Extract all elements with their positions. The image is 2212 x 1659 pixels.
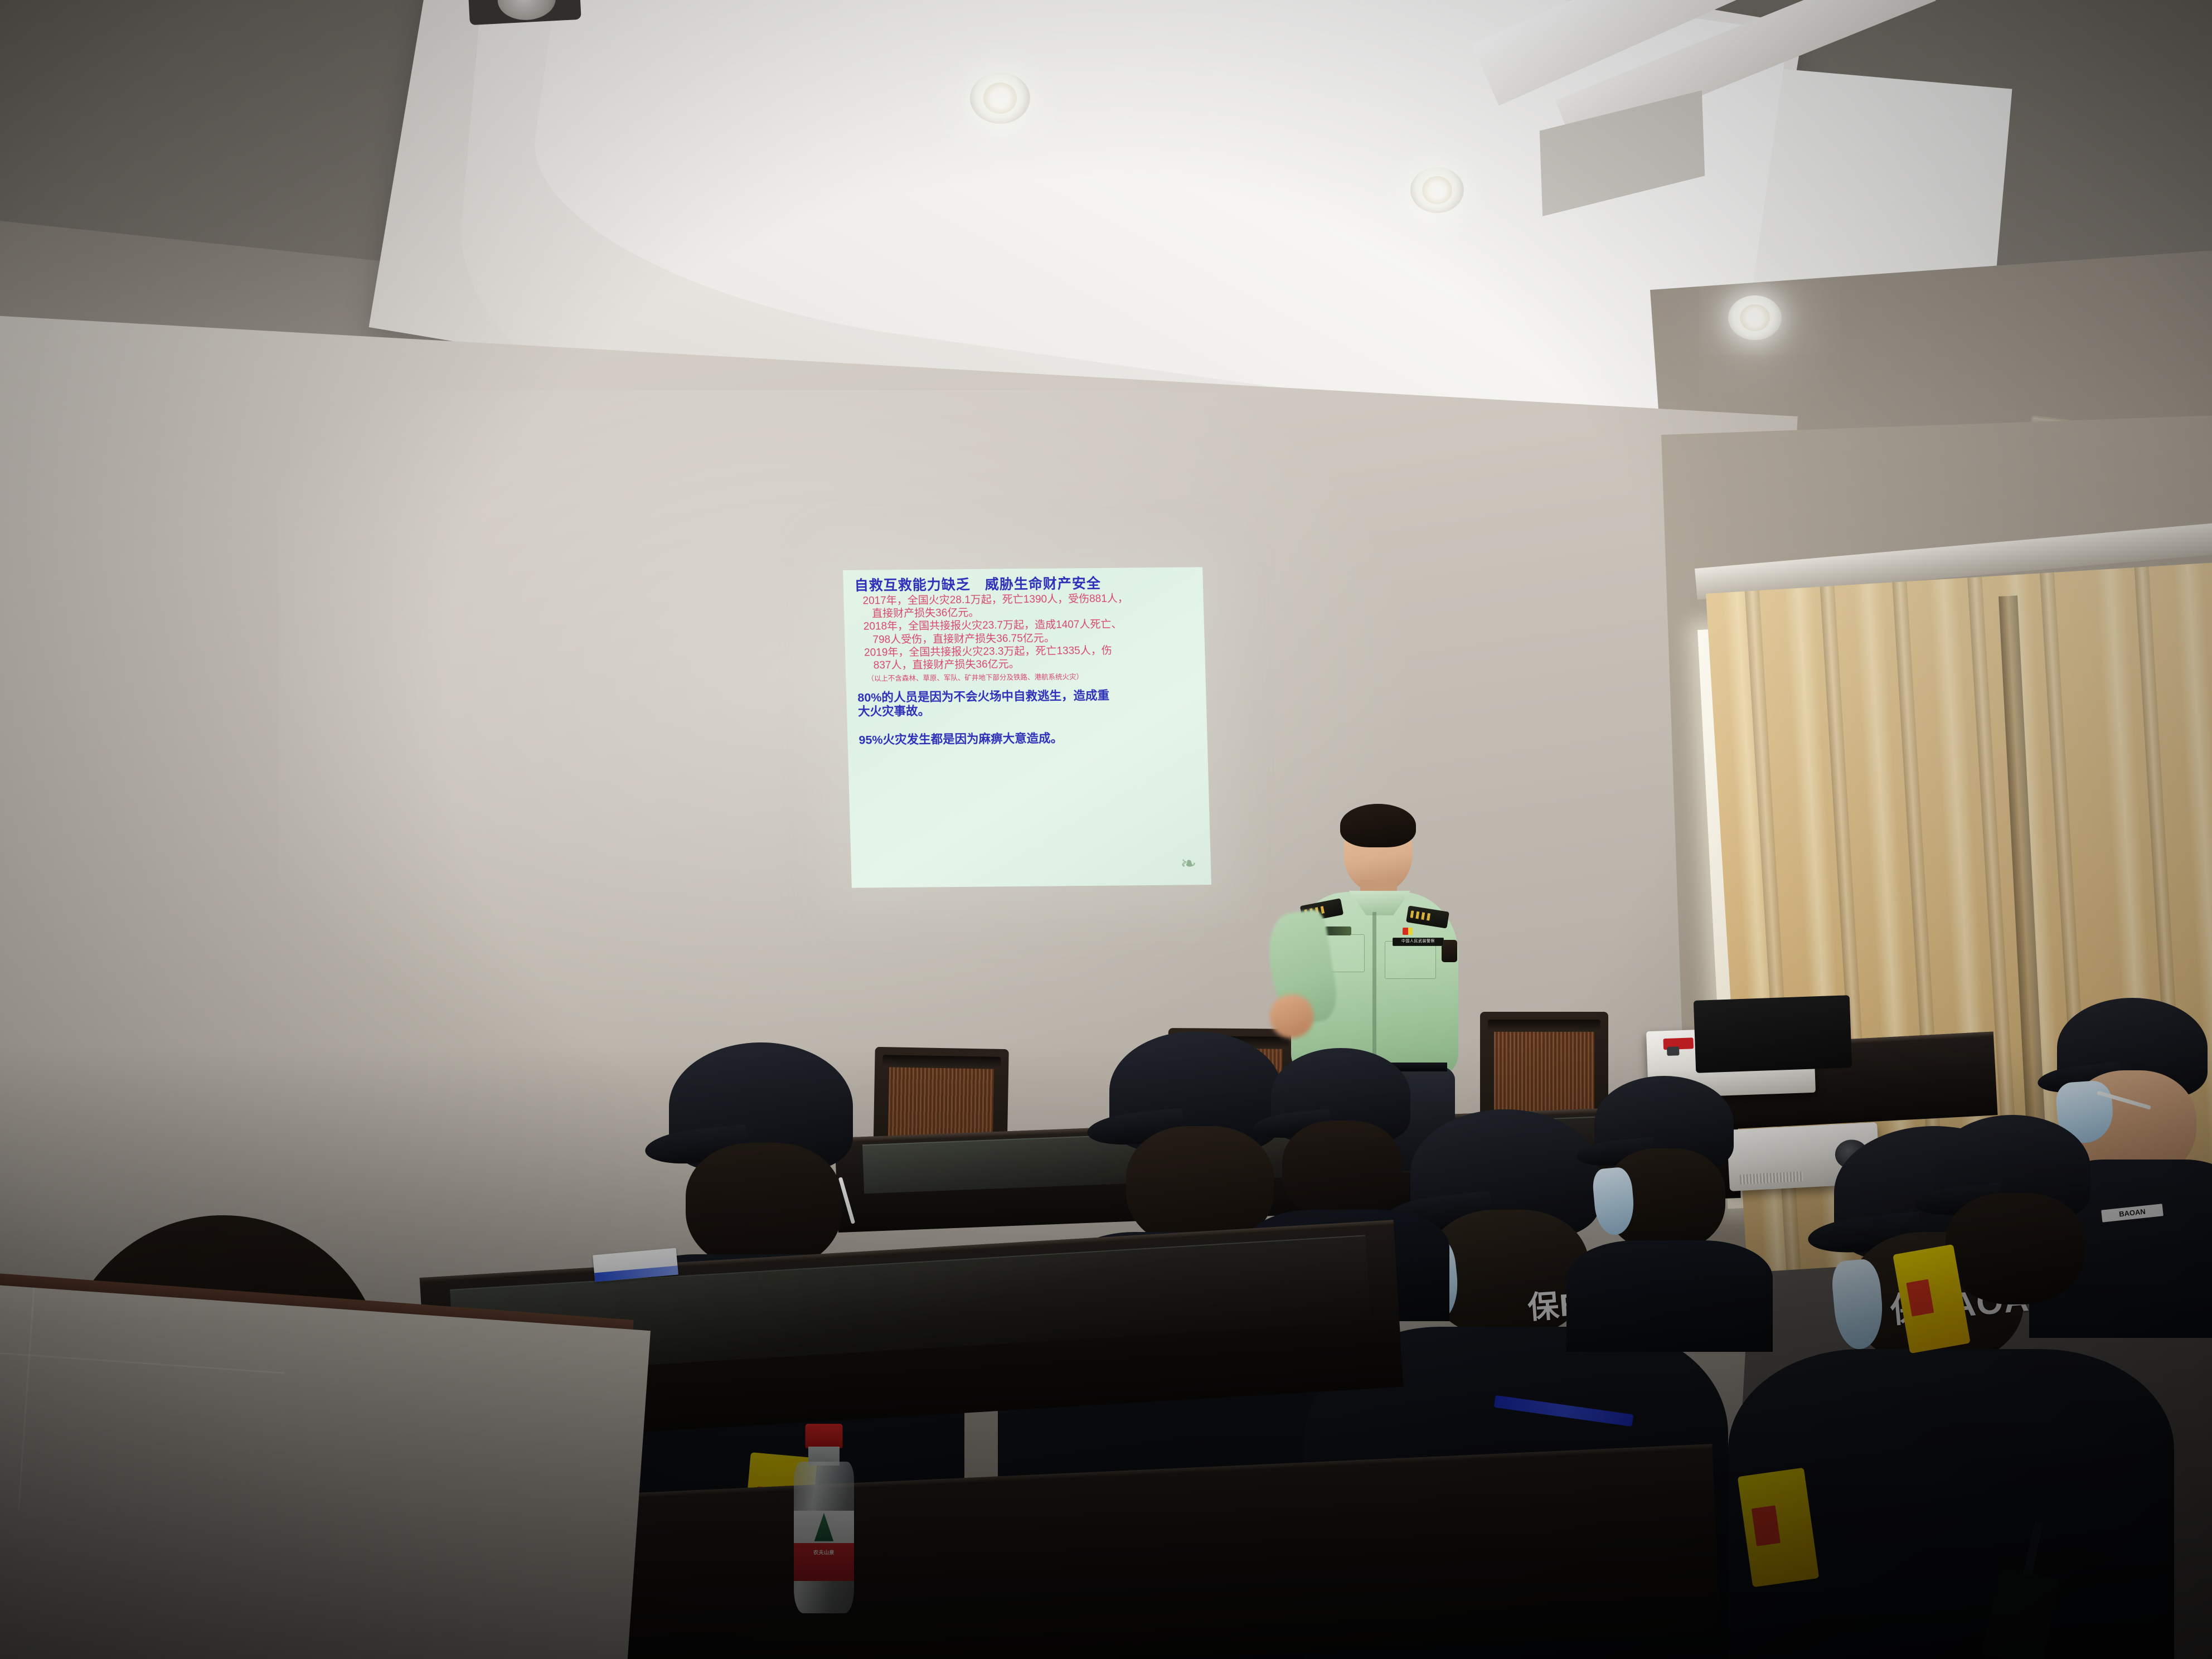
conference-room-scene: 自救互救能力缺乏威胁生命财产安全 2017年，全国火灾28.1万起，死亡1390… [0, 0, 2212, 1659]
downlight-bulb [1422, 176, 1452, 203]
slide-title: 自救互救能力缺乏威胁生命财产安全 [854, 575, 1194, 593]
floor-tiles [0, 1282, 651, 1659]
guard-back-right [1912, 1115, 2146, 1449]
downlight-bulb [983, 83, 1017, 113]
slide-highlight-80-text: 的人员是因为不会火场中自救逃生，造成重 [881, 688, 1109, 704]
armband-mark [1752, 1505, 1781, 1546]
equipment-bag-dark [1694, 995, 1852, 1073]
presenter-shoulder-patch [1442, 940, 1457, 962]
slide-title-left: 自救互救能力缺乏 [854, 577, 971, 594]
presenter-pocket-right [1385, 941, 1436, 979]
guard-head [686, 1143, 842, 1271]
downlight-bulb [1740, 304, 1770, 331]
presenter-nameplate: 中国人民武装警察 [1393, 938, 1444, 946]
projection-screen: 自救互救能力缺乏威胁生命财产安全 2017年，全国火灾28.1万起，死亡1390… [843, 567, 1211, 887]
slide-highlight-95-text: 火灾发生都是因为麻痹大意造成。 [882, 732, 1063, 747]
ceiling-downlight-3 [1728, 295, 1782, 340]
presenter-nameplate-text: 中国人民武装警察 [1393, 938, 1443, 945]
presentation-slide: 自救互救能力缺乏威胁生命财产安全 2017年，全国火灾28.1万起，死亡1390… [843, 567, 1211, 887]
presenter-chest-insignia [1325, 926, 1351, 935]
slide-title-right: 威胁生命财产安全 [984, 576, 1101, 593]
slide-stat-2019-line2: 837人，直接财产损失36亿元。 [856, 656, 1196, 672]
slide-logo-icon: ❧ [1175, 850, 1202, 877]
guard-head [1946, 1193, 2085, 1304]
presenter-flag-pin [1403, 928, 1413, 935]
slide-highlight-95: 95%火灾发生都是因为麻痹大意造成。 [858, 731, 1199, 748]
ceiling-downlight-2 [1410, 167, 1464, 213]
guard-back-center-b [1561, 1076, 1773, 1310]
armband-mark [1907, 1279, 1934, 1317]
ceiling-object-face [497, 0, 557, 21]
slide-footnote: （以上不含森林、草原、军队、矿井地下部分及铁路、港航系统火灾） [857, 672, 1197, 683]
guard-head [1282, 1120, 1402, 1221]
ceiling-downlight-1 [970, 72, 1030, 124]
bottle-cap [806, 1424, 843, 1448]
rank-chevrons [1410, 910, 1432, 921]
case-latch [1667, 1046, 1680, 1056]
slide-highlight-95-pct: 95% [858, 734, 883, 747]
water-bottle[interactable]: 农夫山泉 [794, 1424, 854, 1613]
floor-seam [18, 1288, 35, 1510]
bottle-brand-text: 农夫山泉 [794, 1549, 854, 1556]
floor-seam [0, 1349, 284, 1374]
guard-shoulders [1566, 1240, 1773, 1352]
chair-top-rail [1488, 1020, 1600, 1032]
slide-highlight-80-line2: 大火灾事故。 [858, 702, 1198, 719]
slide-highlight-80-pct: 80% [857, 691, 882, 704]
presenter-hair [1340, 804, 1416, 847]
